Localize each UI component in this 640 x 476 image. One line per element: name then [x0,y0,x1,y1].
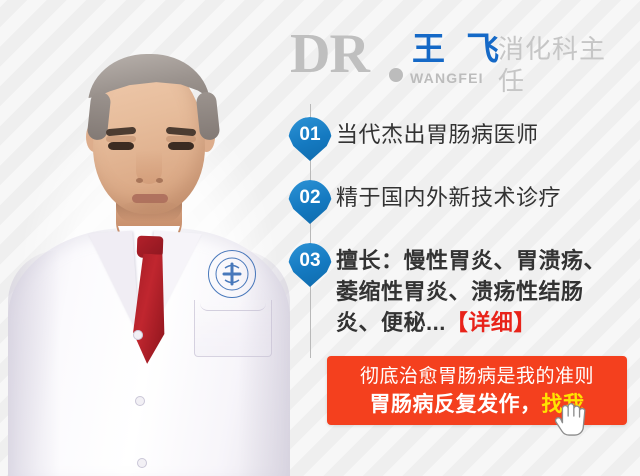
cta-line-1: 彻底治愈胃肠病是我的准则 [327,364,627,390]
promo-banner: DR 王 飞 WANGFEI 消化科主任 01 当代杰出胃肠病医师 02 精于国… [0,0,640,476]
doctor-eye-right [168,142,194,150]
pin-number: 03 [288,250,332,272]
coat-button [135,396,145,406]
pin-number: 01 [288,124,332,146]
highlight-text-specialty: 擅长：慢性胃炎、胃溃疡、萎缩性胃炎、溃疡性结肠炎、便秘...【详细】 [336,245,626,338]
highlight-text: 精于国内外新技术诊疗 [336,182,626,213]
pin-number: 02 [288,187,332,209]
brand-header: DR 王 飞 WANGFEI 消化科主任 [290,26,630,90]
dot-icon [389,68,403,82]
highlight-text: 当代杰出胃肠病医师 [336,119,626,150]
doctor-name-cn: 王 飞 [412,30,505,68]
doctor-name-pinyin: WANGFEI [410,70,484,86]
doctor-eye-left [108,142,134,150]
coat-pocket-flap [200,298,266,311]
dr-wordmark: DR [290,26,369,82]
detail-link[interactable]: 【详细】 [446,310,536,335]
doctor-title: 消化科主任 [498,33,630,97]
hand-pointer-icon [554,398,588,440]
doctor-nostril-left [136,178,143,183]
cta-line-2-prefix: 胃肠病反复发作， [370,393,542,416]
doctor-chin-shading [118,200,182,222]
doctor-photo [0,0,300,476]
doctor-nostril-right [156,178,163,183]
coat-button [133,330,143,340]
hospital-emblem-icon [208,250,256,298]
coat-lapel-left [88,231,139,342]
coat-button [137,458,147,468]
coat-shadow-left [8,250,60,476]
